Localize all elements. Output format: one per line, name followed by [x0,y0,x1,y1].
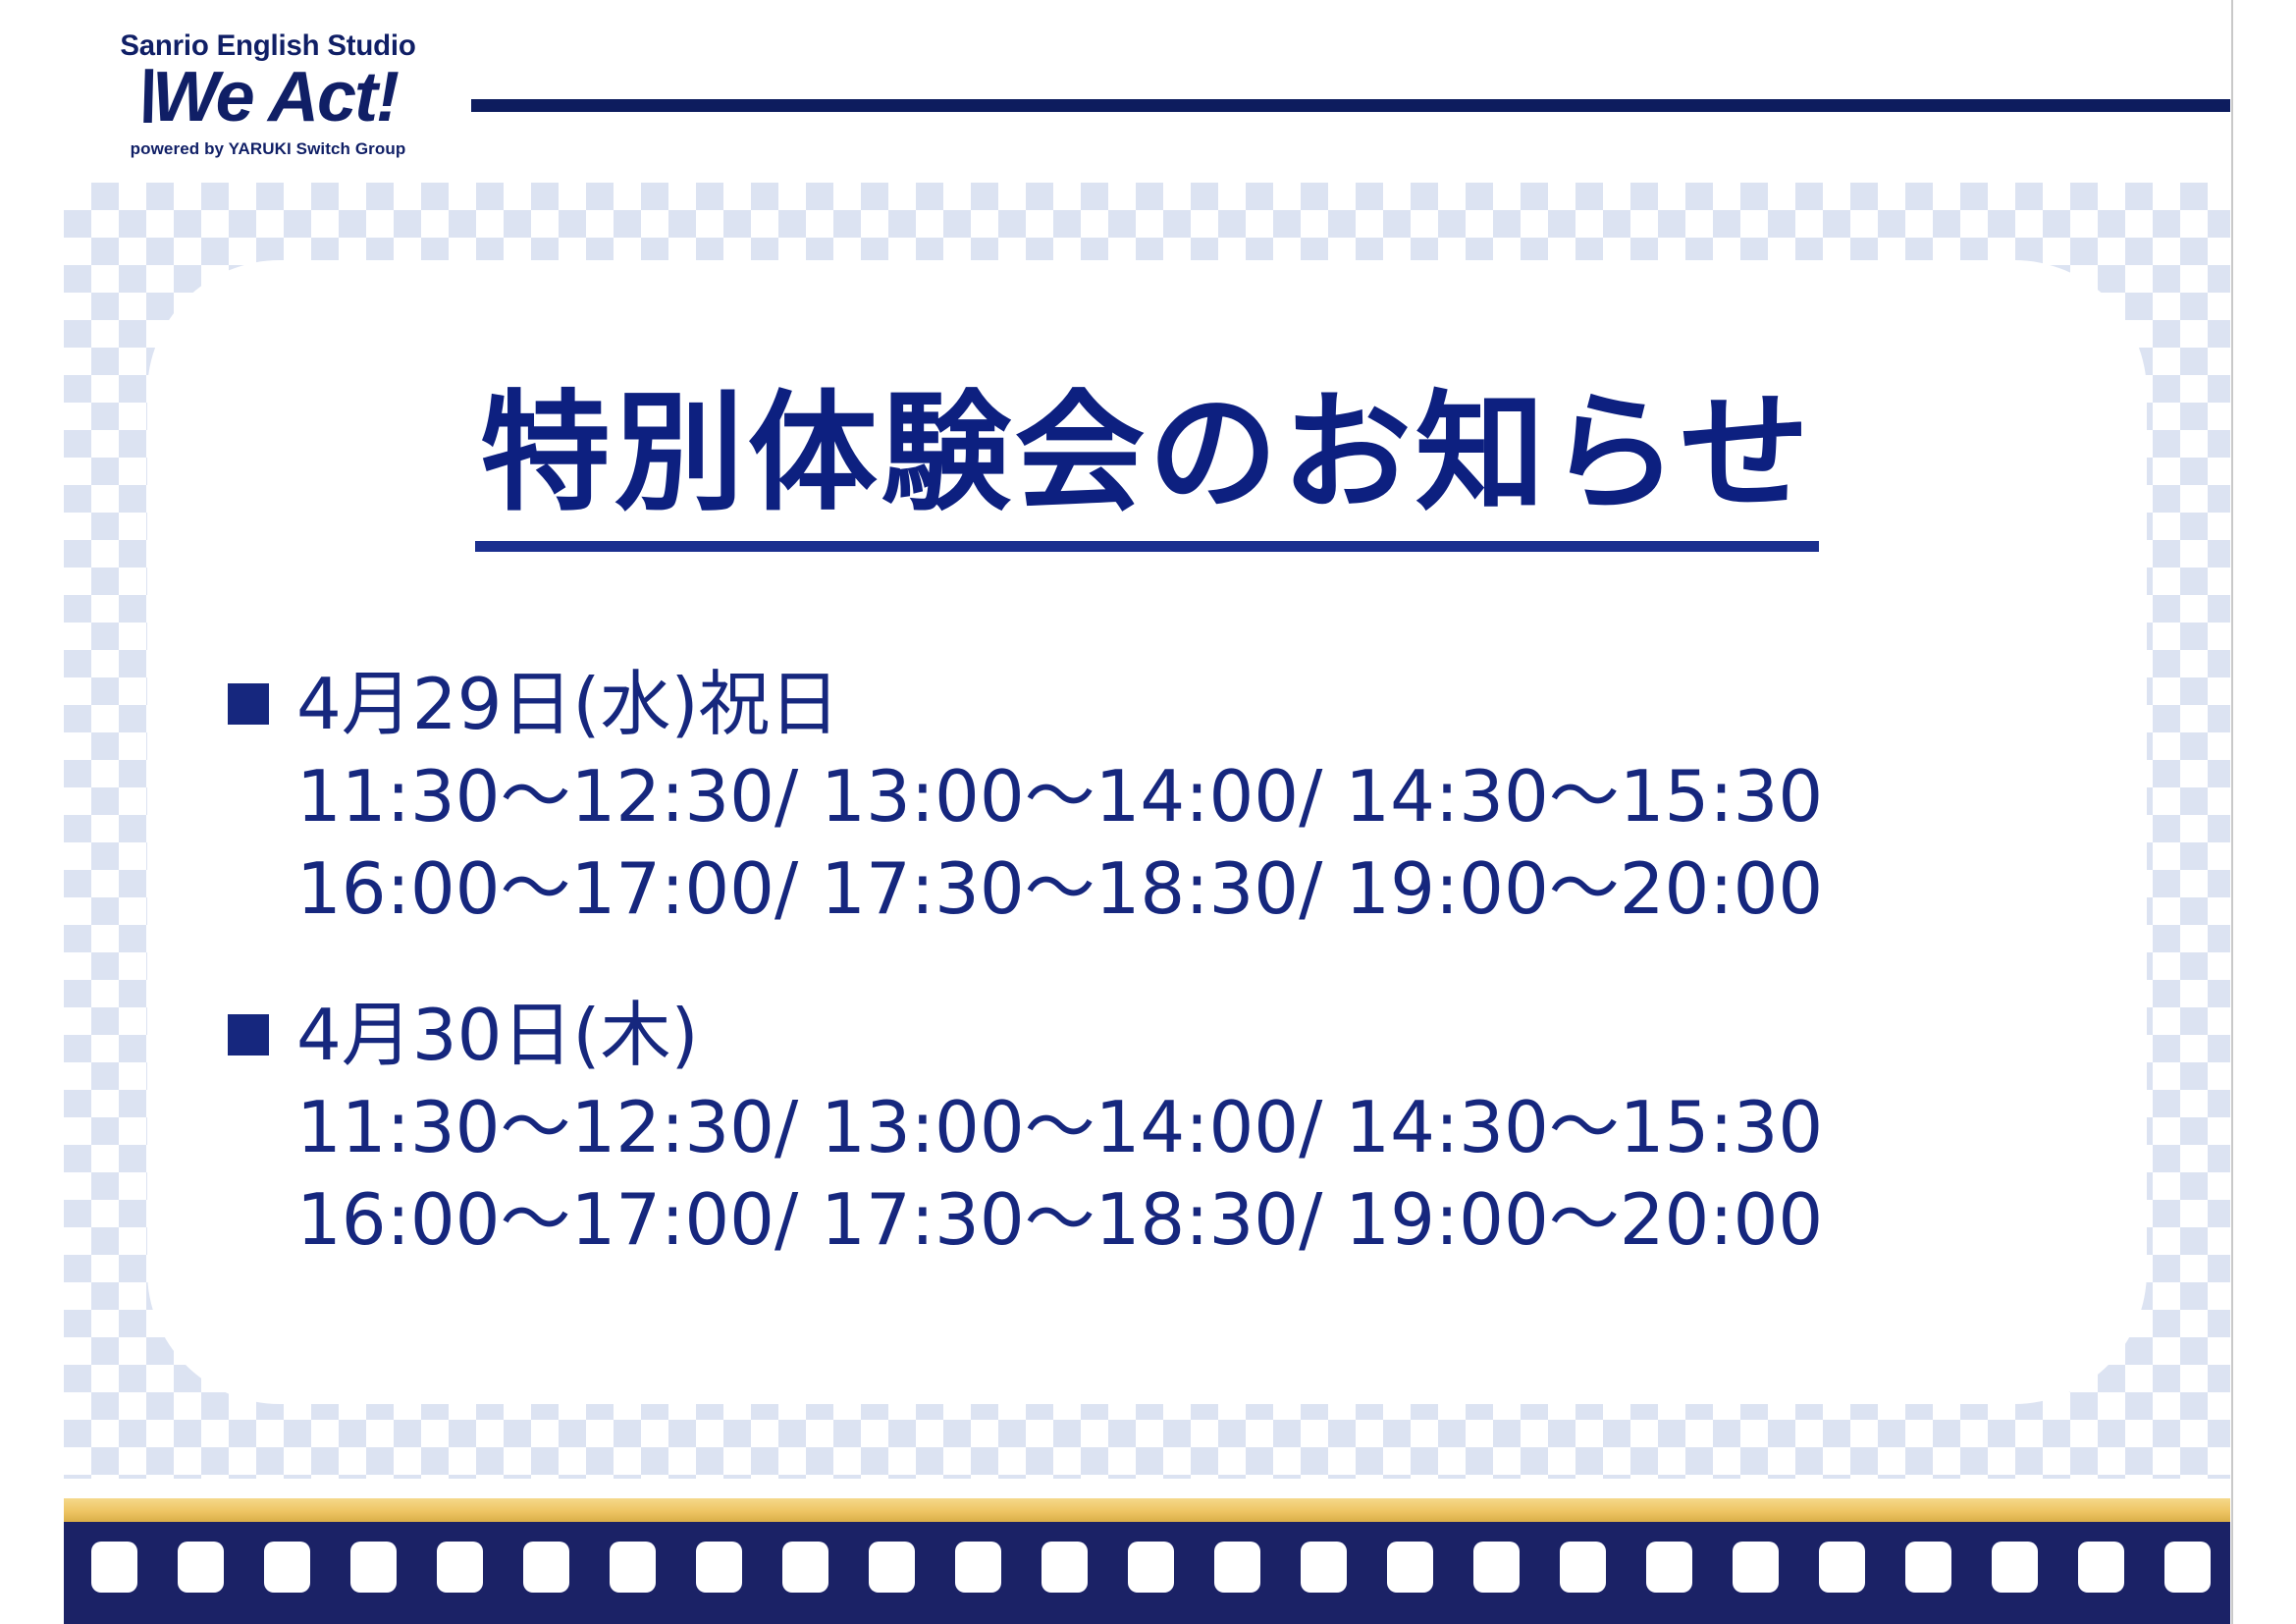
brand-logo-tagline: powered by YARUKI Switch Group [106,140,430,157]
schedule-entry-header: 4月30日(木) [228,991,1995,1080]
film-sprocket-hole [2078,1542,2124,1593]
film-sprocket-hole [1560,1542,1606,1593]
film-sprocket-hole [1905,1542,1951,1593]
film-sprocket-hole [955,1542,1001,1593]
film-sprocket-hole [1301,1542,1347,1593]
film-sprocket-hole [1387,1542,1433,1593]
film-sprocket-hole [264,1542,310,1593]
film-sprocket-hole [782,1542,828,1593]
film-sprocket-hole [2164,1542,2211,1593]
film-sprocket-hole [1992,1542,2038,1593]
film-sprocket-hole [869,1542,915,1593]
film-sprocket-hole [696,1542,742,1593]
schedule-times-line: 16:00〜17:00/ 17:30〜18:30/ 19:00〜20:00 [296,843,1995,934]
schedule-entry-date: 4月29日(水)祝日 [296,660,840,749]
schedule-times-line: 11:30〜12:30/ 13:00〜14:00/ 14:30〜15:30 [296,751,1995,841]
film-sprocket-hole [1646,1542,1692,1593]
schedule-times-line: 11:30〜12:30/ 13:00〜14:00/ 14:30〜15:30 [296,1082,1995,1172]
brand-logo: Sanrio English Studio \We Act! powered b… [106,31,430,157]
slide-right-border [2231,0,2233,1624]
film-sprocket-hole [1819,1542,1865,1593]
brand-logo-wordmark-text: We Act! [152,58,398,136]
schedule-entry-times: 11:30〜12:30/ 13:00〜14:00/ 14:30〜15:30 16… [296,751,1995,934]
slide-header: Sanrio English Studio \We Act! powered b… [0,0,2296,172]
film-sprocket-hole [1041,1542,1088,1593]
film-sprocket-hole [437,1542,483,1593]
brand-logo-wordmark: \We Act! [106,62,430,133]
square-bullet-icon [228,683,269,725]
page-title: 特別体験会のお知らせ [475,378,1819,552]
film-sprocket-hole [610,1542,656,1593]
film-sprocket-hole [1473,1542,1520,1593]
schedule-times-line: 16:00〜17:00/ 17:30〜18:30/ 19:00〜20:00 [296,1174,1995,1265]
schedule-entry-date: 4月30日(木) [296,991,699,1080]
film-strip [64,1522,2230,1624]
schedule-list: 4月29日(水)祝日 11:30〜12:30/ 13:00〜14:00/ 14:… [228,660,1995,1265]
schedule-entry: 4月30日(木) 11:30〜12:30/ 13:00〜14:00/ 14:30… [228,991,1995,1265]
film-sprocket-hole [1128,1542,1174,1593]
film-sprocket-hole [1733,1542,1779,1593]
header-divider-rule [471,99,2230,112]
film-sprocket-hole [1214,1542,1260,1593]
schedule-entry-header: 4月29日(水)祝日 [228,660,1995,749]
film-sprocket-hole [91,1542,137,1593]
page-title-container: 特別体験会のお知らせ [147,378,2147,552]
schedule-entry: 4月29日(水)祝日 11:30〜12:30/ 13:00〜14:00/ 14:… [228,660,1995,934]
slide-root: Sanrio English Studio \We Act! powered b… [0,0,2296,1624]
square-bullet-icon [228,1014,269,1056]
film-sprocket-hole [523,1542,569,1593]
film-sprocket-hole [350,1542,397,1593]
film-strip-gold-bar [64,1498,2230,1522]
film-sprocket-hole [178,1542,224,1593]
film-strip-sprockets [64,1522,2230,1624]
schedule-entry-times: 11:30〜12:30/ 13:00〜14:00/ 14:30〜15:30 16… [296,1082,1995,1265]
